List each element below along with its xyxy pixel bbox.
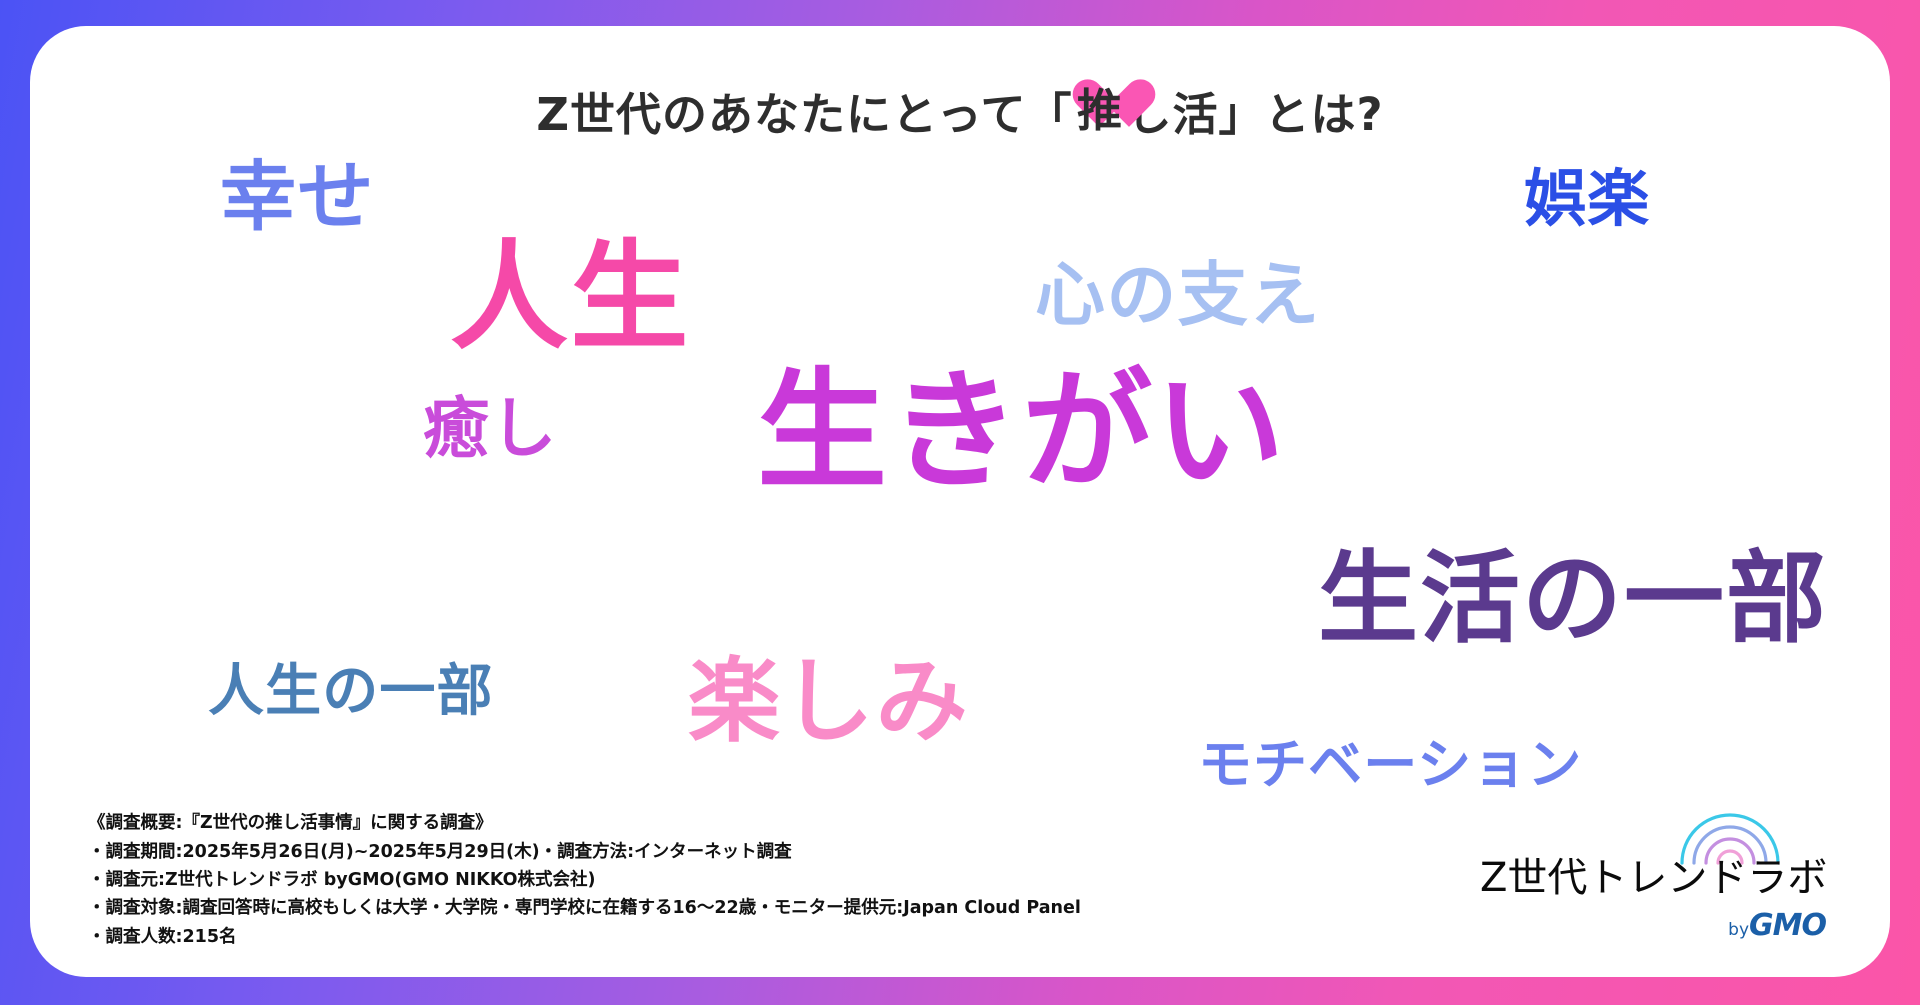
word-cloud-item: 人生の一部 <box>208 664 494 720</box>
word-cloud-item: 幸せ <box>220 159 375 235</box>
word-cloud-item: 生きがい <box>757 366 1287 496</box>
word-cloud-item: 生活の一部 <box>1318 549 1828 649</box>
white-card: Z世代のあなたにとって「推し活」とは? 幸せ娯楽人生心の支え癒し生きがい生活の一… <box>30 26 1890 977</box>
word-cloud-item: 楽しみ <box>688 656 970 748</box>
footnote-line: ・調査期間:2025年5月26日(月)~2025年5月29日(木)・調査方法:イ… <box>88 838 1081 866</box>
footnote-line: 《調査概要:『Z世代の推し活事情』に関する調査》 <box>88 809 1081 837</box>
word-cloud-item: 心の支え <box>1035 260 1321 330</box>
word-cloud-item: モチベーション <box>1198 738 1582 792</box>
by-gmo-lockup: byGMO <box>1728 911 1826 941</box>
gmo-label: GMO <box>1749 908 1826 943</box>
by-label: by <box>1728 920 1749 940</box>
footnote-line: ・調査元:Z世代トレンドラボ byGMO(GMO NIKKO株式会社) <box>88 866 1081 894</box>
logo-wordmark: Z世代トレンドラボ <box>1480 845 1827 903</box>
brand-logo: Z世代トレンドラボ byGMO <box>1480 803 1830 943</box>
survey-footnote: 《調査概要:『Z世代の推し活事情』に関する調査》・調査期間:2025年5月26日… <box>88 809 1081 951</box>
word-cloud-item: 癒し <box>423 396 558 462</box>
word-cloud-item: 娯楽 <box>1524 168 1650 230</box>
poster-root: Z世代のあなたにとって「推し活」とは? 幸せ娯楽人生心の支え癒し生きがい生活の一… <box>0 0 1920 1005</box>
footnote-line: ・調査人数:215名 <box>88 923 1081 951</box>
footnote-line: ・調査対象:調査回答時に高校もしくは大学・大学院・専門学校に在籍する16〜22歳… <box>88 894 1081 922</box>
word-cloud-item: 人生 <box>450 238 691 356</box>
title-highlight-char: 推 <box>1072 80 1126 142</box>
heart-icon: 推 <box>1072 80 1126 142</box>
